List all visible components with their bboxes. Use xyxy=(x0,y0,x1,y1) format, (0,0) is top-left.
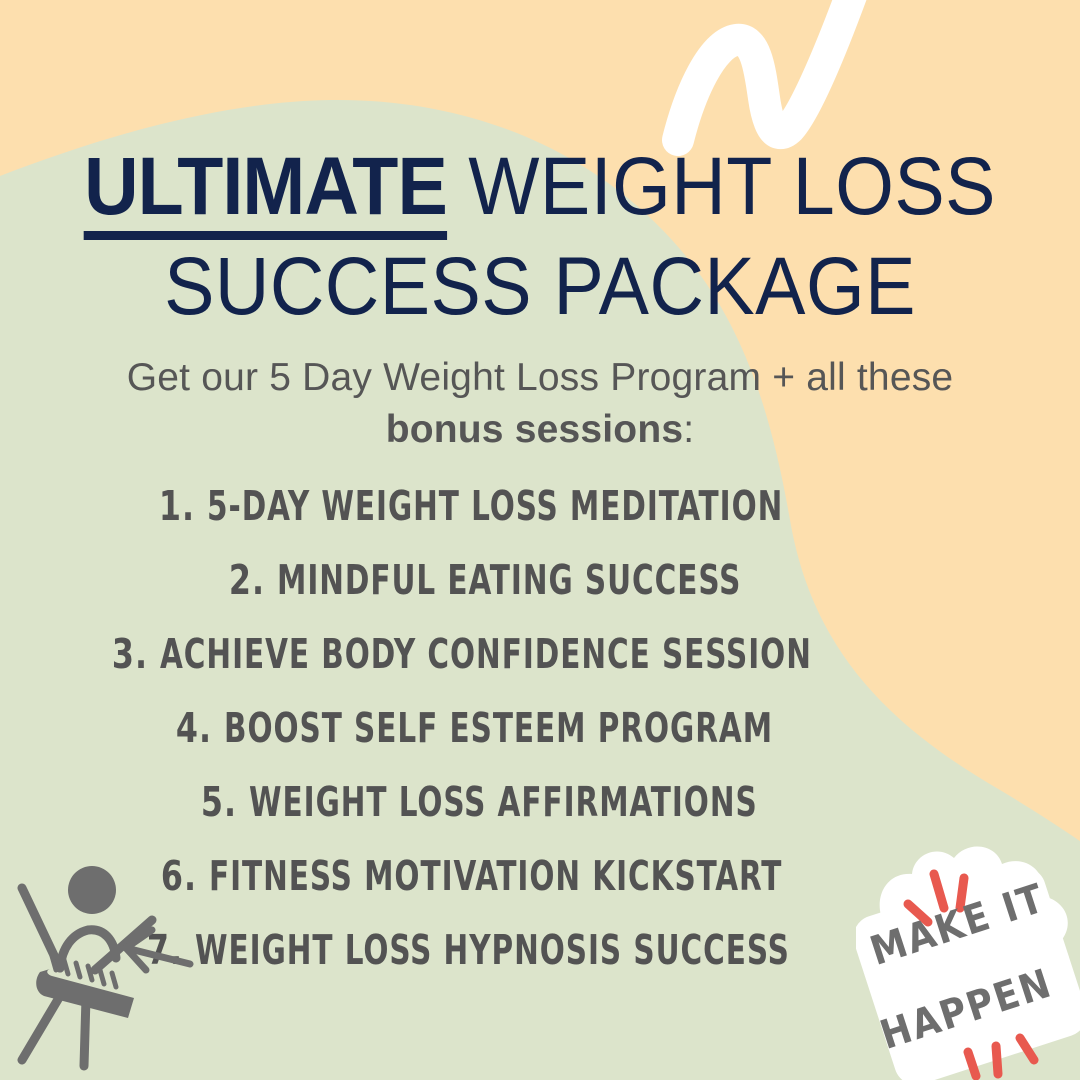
title-line-1: ULTIMATE WEIGHT LOSS xyxy=(43,140,1037,240)
subtitle: Get our 5 Day Weight Loss Program + all … xyxy=(120,352,960,456)
list-item: 1. 5-Day Weight Loss Meditation xyxy=(0,482,1080,556)
make-it-happen-sticker: MAKE IT HAPPEN xyxy=(856,838,1080,1080)
list-item-number: 4. xyxy=(176,704,212,752)
poster-canvas: ULTIMATE WEIGHT LOSS SUCCESS PACKAGE Get… xyxy=(0,0,1080,1080)
title-emphasis: ULTIMATE xyxy=(84,148,447,240)
left-arrow-icon xyxy=(118,918,198,988)
list-item-label: Weight Loss Hypnosis Success xyxy=(195,926,790,974)
subtitle-part-1: Get our 5 Day Weight Loss Program + all … xyxy=(127,356,954,399)
list-item: 3. Achieve Body Confidence Session xyxy=(0,630,1080,704)
list-item-label: Weight Loss Affirmations xyxy=(249,778,758,826)
title-line-2: SUCCESS PACKAGE xyxy=(43,240,1037,334)
figure-head xyxy=(68,866,116,914)
list-item: 2. Mindful Eating Success xyxy=(0,556,1080,630)
subtitle-bold: bonus sessions xyxy=(386,408,684,451)
list-item-label: Achieve Body Confidence Session xyxy=(160,630,812,678)
list-item-label: Fitness Motivation Kickstart xyxy=(209,852,782,900)
list-item: 4. Boost Self Esteem Program xyxy=(0,704,1080,778)
list-item-label: 5-Day Weight Loss Meditation xyxy=(207,482,783,530)
subtitle-part-2: : xyxy=(683,408,694,451)
list-item-number: 2. xyxy=(229,556,265,604)
list-item-number: 5. xyxy=(201,778,237,826)
list-item-label: Mindful Eating Success xyxy=(277,556,741,604)
list-item-label: Boost Self Esteem Program xyxy=(224,704,773,752)
title-line-1-rest: WEIGHT LOSS xyxy=(447,141,996,232)
page-title: ULTIMATE WEIGHT LOSS SUCCESS PACKAGE xyxy=(0,140,1080,334)
list-item-number: 1. xyxy=(159,482,195,530)
list-item-number: 3. xyxy=(111,630,147,678)
